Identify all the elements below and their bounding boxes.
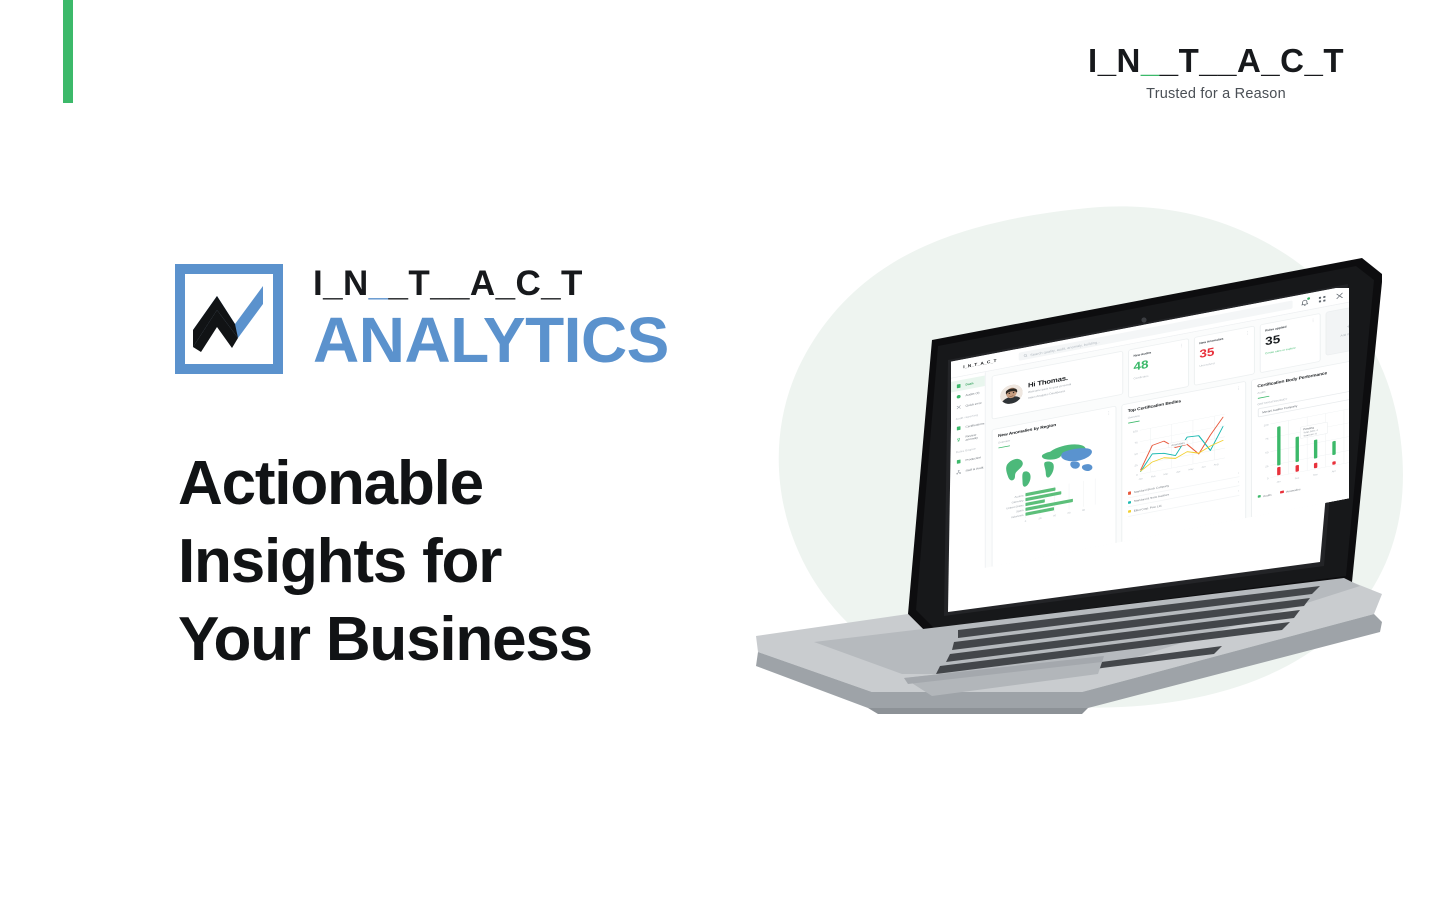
svg-text:Apr: Apr (1331, 470, 1335, 474)
svg-text:Jan: Jan (1138, 477, 1143, 481)
intact-analytics-logo-mark-icon (175, 264, 283, 374)
svg-text:75: 75 (1265, 437, 1269, 441)
search-icon (1024, 353, 1028, 358)
notification-bell-icon[interactable] (1300, 298, 1309, 307)
svg-text:50: 50 (1265, 451, 1269, 455)
certificate-icon (956, 425, 962, 431)
rules-icon (956, 458, 962, 464)
svg-text:75: 75 (1134, 441, 1138, 445)
chevron-right-icon: › (1238, 479, 1239, 483)
corner-tagline: Trusted for a Reason (1088, 86, 1344, 102)
legend-swatch (1128, 510, 1131, 513)
svg-text:20: 20 (1038, 517, 1042, 520)
add-widget-button[interactable]: + Add Widget (1325, 303, 1349, 356)
svg-text:100: 100 (1133, 429, 1138, 434)
panel-accent-rule (1128, 420, 1140, 424)
dashboard-screen: I_N_T_A_C_T Search quality, audit, anoma… (951, 288, 1349, 575)
sidebar-item-label: Quick error (965, 401, 981, 407)
panel-footer: All anomalies 1 Week (998, 553, 1109, 575)
svg-text:Jan: Jan (1276, 480, 1281, 484)
corner-wordmark-pre: I_N (1088, 42, 1141, 79)
svg-text:Apr: Apr (1176, 470, 1180, 474)
svg-text:Mar: Mar (1313, 473, 1318, 477)
panel-footer: 1 Month (1257, 504, 1349, 528)
brand-analytics-word: ANALYTICS (313, 311, 669, 370)
sidebar-item-label: Dash (965, 381, 973, 386)
panel-anomalies-by-region: ⋮ New Anomalies by Region Overview (991, 406, 1116, 575)
panel-footer-left[interactable]: All Time (1128, 548, 1138, 553)
svg-text:Aug: Aug (1213, 463, 1218, 467)
svg-text:Feb: Feb (1294, 477, 1299, 481)
corner-wordmark-post: _T__A_C_T (1160, 42, 1344, 79)
svg-text:Feb: Feb (1151, 475, 1156, 479)
svg-text:40: 40 (1053, 514, 1057, 517)
svg-text:50: 50 (1134, 452, 1138, 456)
settings-tools-icon[interactable] (1335, 291, 1344, 300)
svg-text:Germany: Germany (1011, 499, 1024, 505)
dashboard-icon (956, 383, 962, 389)
panel-accent-rule (1257, 395, 1269, 399)
headline-line-1: Actionable (178, 445, 798, 523)
corner-brand-lockup: I_N__T__A_C_T Trusted for a Reason (1088, 44, 1344, 102)
legend-swatch (1257, 495, 1260, 498)
svg-text:25: 25 (1134, 463, 1138, 467)
dashboard-sidebar: Dash Audits (2) (951, 372, 985, 575)
select-value: Merani Auditor Company (1262, 404, 1297, 414)
brand-wordmark-accent-underscore: _ (369, 264, 389, 303)
panel-footer-right[interactable]: 1 Week (1100, 553, 1110, 558)
corner-wordmark-accent-underscore: _ (1141, 42, 1160, 79)
svg-text:May: May (1188, 468, 1194, 472)
brand-wordmark-post: _T__A_C_T (389, 264, 583, 303)
card-menu-icon[interactable]: ⋮ (1311, 319, 1316, 323)
sidebar-item-label: Audits (2) (965, 391, 979, 397)
stat-card-rules-applied: ⋮ Rules applied 35 Create rules or explo… (1259, 313, 1320, 373)
panel-top-certification-bodies: ⋮ Top Certification Bodies Overview (1121, 381, 1246, 559)
stat-card-new-audits: ⋮ New Audits 48 Certificates (1128, 338, 1189, 398)
svg-text:Spain: Spain (1016, 508, 1024, 513)
brand-wordmark-pre: I_N (313, 264, 369, 303)
sidebar-item-label: Certifications (965, 421, 984, 428)
card-menu-icon[interactable]: ⋮ (1236, 387, 1241, 391)
dashboard-main: Hi Thomas. Welcome back to your personal… (985, 297, 1349, 569)
page-title: Actionable Insights for Your Business (178, 445, 798, 679)
anomaly-icon (956, 404, 962, 410)
legend-item[interactable]: Anomalies (1280, 487, 1300, 494)
panel-footer-right[interactable]: 1 Month (1229, 528, 1239, 533)
legend-label: Audits (1263, 493, 1272, 498)
svg-text:60: 60 (1067, 512, 1071, 515)
review-icon (956, 436, 962, 442)
sidebar-item-label: Review anomaly (965, 431, 984, 441)
panel-certification-body-performance: ⋮ Certification Body Performance Audits … (1251, 357, 1349, 535)
notification-badge-dot (1307, 297, 1310, 300)
svg-text:100: 100 (1263, 423, 1268, 428)
audit-icon (956, 393, 962, 399)
accent-bar (63, 0, 73, 103)
brand-wordmark: I_N__T__A_C_T (313, 266, 669, 301)
network-icon (956, 469, 962, 475)
svg-text:Indonesia: Indonesia (1011, 513, 1024, 519)
legend-label: Elliot Corp. Proc Ltd. (1134, 504, 1162, 513)
sidebar-item-label: Production (965, 455, 981, 461)
avatar (1000, 383, 1022, 406)
apps-grid-icon[interactable] (1318, 294, 1327, 303)
svg-text:25: 25 (1265, 464, 1269, 468)
card-menu-icon[interactable]: ⋮ (1245, 331, 1250, 335)
sidebar-item-label: Staff & Audit (965, 465, 983, 472)
svg-text:Austria: Austria (1014, 494, 1024, 499)
chevron-right-icon: › (1238, 470, 1239, 474)
corner-wordmark: I_N__T__A_C_T (1088, 44, 1344, 77)
headline-line-3: Your Business (178, 601, 798, 679)
card-menu-icon[interactable]: ⋮ (1106, 411, 1111, 415)
plus-icon: + (1347, 323, 1349, 330)
legend-swatch (1280, 491, 1283, 494)
svg-text:0: 0 (1136, 473, 1138, 477)
svg-text:80: 80 (1082, 509, 1086, 512)
legend-label: Anomalies (1286, 488, 1300, 494)
brand-lockup: I_N__T__A_C_T ANALYTICS (175, 264, 669, 374)
card-menu-icon[interactable]: ⋮ (1179, 344, 1184, 348)
svg-text:0: 0 (1024, 520, 1026, 523)
panel-footer: All Time 1 Month (1128, 528, 1239, 553)
legend-swatch (1128, 501, 1131, 504)
svg-text:0: 0 (1266, 477, 1268, 481)
panel-accent-rule (998, 445, 1010, 449)
legend-swatch (1128, 492, 1131, 495)
slide-canvas: I_N__T__A_C_T Trusted for a Reason I_N__… (0, 0, 1440, 900)
legend-item[interactable]: Audits (1257, 493, 1271, 499)
add-widget-label: Add Widget (1340, 331, 1349, 337)
chevron-right-icon: › (1238, 489, 1239, 493)
svg-text:Jun: Jun (1201, 465, 1206, 469)
stat-card-new-anomalies: ⋮ New Anomalies 35 Unresolved (1194, 326, 1255, 386)
svg-text:Mar: Mar (1163, 473, 1168, 477)
laptop-mockup: I_N_T_A_C_T Search quality, audit, anoma… (752, 222, 1382, 722)
panel-footer-left[interactable]: All anomalies (998, 571, 1015, 575)
headline-line-2: Insights for (178, 523, 798, 601)
